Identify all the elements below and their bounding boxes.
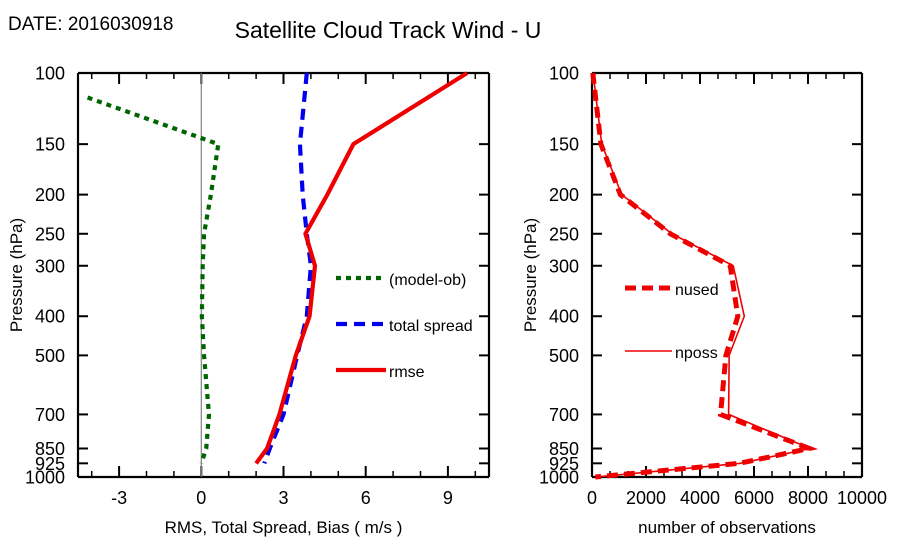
x-tick-label: -3 <box>111 488 127 508</box>
y-tick-label: 500 <box>549 346 579 366</box>
x-tick-label: 10000 <box>837 488 887 508</box>
right-panel: 1001502002503004005007008509251000020004… <box>521 64 887 538</box>
x-tick-label: 6000 <box>734 488 774 508</box>
legend-label-nused: nused <box>675 282 719 299</box>
y-tick-label: 700 <box>549 405 579 425</box>
profile-figure: DATE: 2016030918 Satellite Cloud Track W… <box>0 0 900 560</box>
x-tick-label: 3 <box>278 488 288 508</box>
y-tick-label: 700 <box>35 405 65 425</box>
y-tick-label: 300 <box>35 256 65 276</box>
series-nposs <box>593 73 810 477</box>
date-label: DATE: 2016030918 <box>8 14 174 35</box>
legend-label-total-spread: total spread <box>389 318 473 335</box>
y-tick-label: 1000 <box>539 468 579 488</box>
x-axis-label: RMS, Total Spread, Bias ( m/s ) <box>165 518 403 537</box>
x-tick-label: 4000 <box>680 488 720 508</box>
x-axis-label: number of observations <box>638 518 816 537</box>
y-tick-label: 100 <box>549 64 579 84</box>
y-tick-label: 150 <box>35 135 65 155</box>
y-tick-label: 300 <box>549 256 579 276</box>
x-tick-label: 0 <box>587 488 597 508</box>
y-tick-label: 150 <box>549 135 579 155</box>
y-tick-label: 250 <box>35 224 65 244</box>
y-tick-label: 1000 <box>25 468 65 488</box>
legend-label-rmse: rmse <box>389 364 425 381</box>
y-axis-label: Pressure (hPa) <box>7 218 26 332</box>
left-panel: 1001502002503004005007008509251000-30369… <box>7 64 489 538</box>
x-tick-label: 6 <box>361 488 371 508</box>
series--model-ob- <box>88 98 219 464</box>
y-tick-label: 250 <box>549 224 579 244</box>
y-tick-label: 500 <box>35 346 65 366</box>
y-axis-label: Pressure (hPa) <box>521 218 540 332</box>
page-title: Satellite Cloud Track Wind - U <box>235 17 542 43</box>
x-tick-label: 9 <box>443 488 453 508</box>
figure-canvas: DATE: 2016030918 Satellite Cloud Track W… <box>0 0 900 560</box>
x-tick-label: 8000 <box>788 488 828 508</box>
series-total-spread <box>264 73 311 463</box>
y-tick-label: 100 <box>35 64 65 84</box>
legend-label-nposs: nposs <box>675 345 718 362</box>
y-tick-label: 400 <box>35 307 65 327</box>
x-tick-label: 0 <box>196 488 206 508</box>
x-tick-label: 2000 <box>626 488 666 508</box>
y-tick-label: 200 <box>549 185 579 205</box>
y-tick-label: 400 <box>549 307 579 327</box>
y-tick-label: 200 <box>35 185 65 205</box>
legend-label--model-ob-: (model-ob) <box>389 272 466 289</box>
series-nused <box>593 73 810 477</box>
